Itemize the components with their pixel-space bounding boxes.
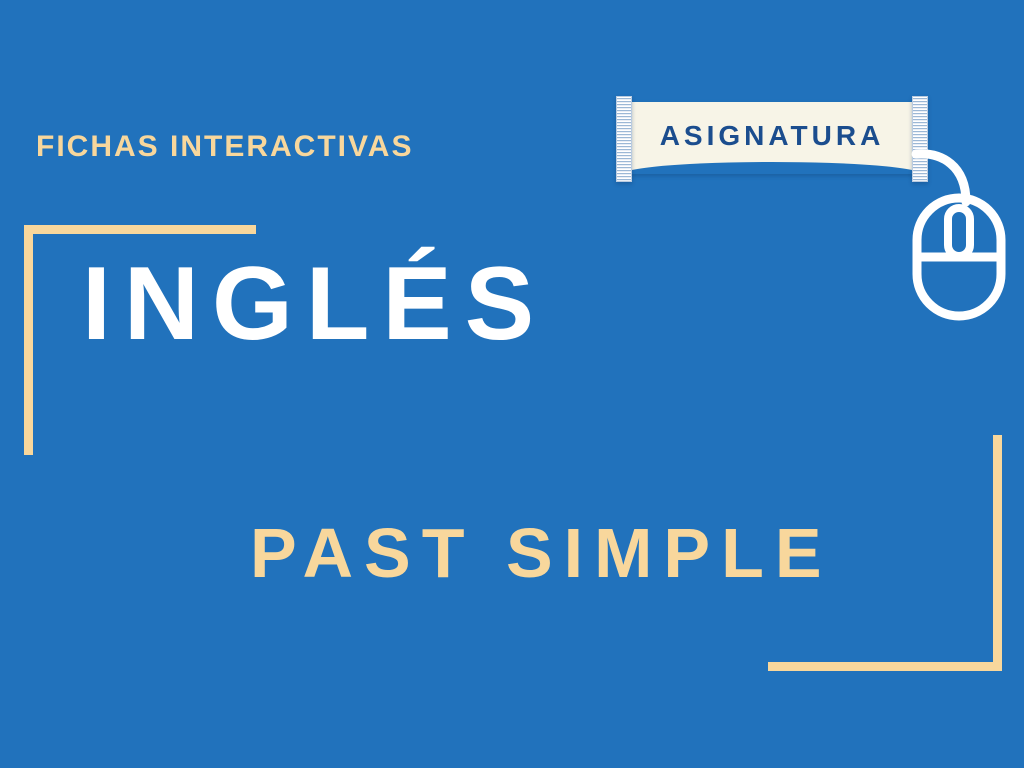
slide-canvas: FICHAS INTERACTIVAS INGLÉS PAST SIMPLE A… — [0, 0, 1024, 768]
topic-title: PAST SIMPLE — [250, 518, 833, 588]
corner-bracket-top-left-horizontal-bar — [24, 225, 256, 234]
banner-label: ASIGNATURA — [624, 102, 920, 170]
computer-mouse-graphic — [896, 140, 1024, 330]
subject-title: INGLÉS — [82, 252, 547, 356]
computer-mouse-icon — [896, 140, 1024, 330]
corner-bracket-top-left-vertical-bar — [24, 225, 33, 455]
corner-bracket-bottom-right-horizontal-bar — [768, 662, 1002, 671]
mouse-scroll-wheel-icon — [948, 208, 970, 256]
asignatura-banner: ASIGNATURA — [612, 96, 932, 182]
corner-bracket-bottom-right-vertical-bar — [993, 435, 1002, 671]
kicker-text: FICHAS INTERACTIVAS — [36, 132, 413, 162]
